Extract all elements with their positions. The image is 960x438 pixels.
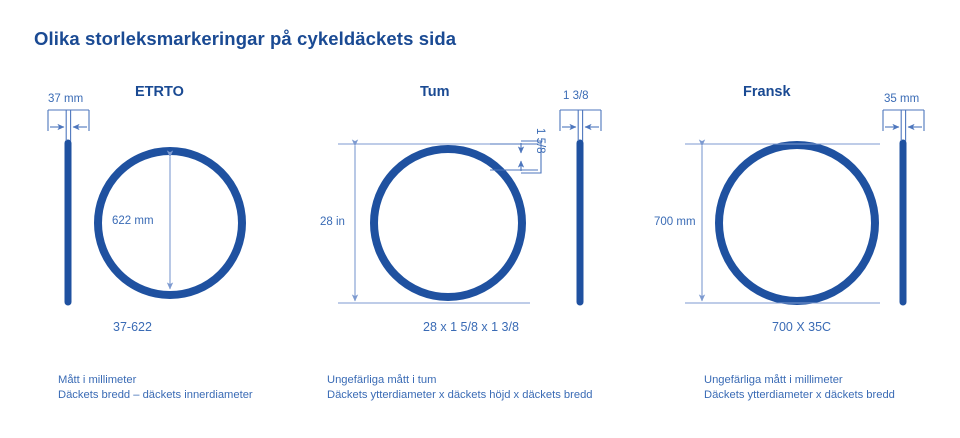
width-bracket-fransk bbox=[883, 110, 924, 141]
diameter-label-tum: 28 in bbox=[320, 216, 345, 228]
diameter-arrow-fransk bbox=[685, 144, 880, 303]
tire-ring-fransk bbox=[719, 145, 875, 301]
caption-tum-line2: Däckets ytterdiameter x däckets höjd x d… bbox=[327, 388, 593, 403]
tire-ring-tum bbox=[374, 149, 522, 297]
width-bracket-tum bbox=[560, 110, 601, 141]
size-code-fransk: 700 X 35C bbox=[772, 320, 831, 334]
size-code-etrto: 37-622 bbox=[113, 320, 152, 334]
width-bracket-etrto bbox=[48, 110, 89, 141]
caption-fransk-line2: Däckets ytterdiameter x däckets bredd bbox=[704, 388, 895, 403]
diameter-arrow-tum bbox=[338, 144, 530, 303]
caption-etrto-line2: Däckets bredd – däckets innerdiameter bbox=[58, 388, 253, 403]
width-label-etrto: 37 mm bbox=[48, 93, 83, 105]
caption-etrto-line1: Mått i millimeter bbox=[58, 373, 136, 388]
page-title: Olika storleksmarkeringar på cykeldäcket… bbox=[34, 28, 456, 50]
caption-fransk-line1: Ungefärliga mått i millimeter bbox=[704, 373, 843, 388]
height-label-tum: 1 5/8 bbox=[534, 128, 546, 154]
width-label-tum: 1 3/8 bbox=[563, 90, 589, 102]
infographic-page: Olika storleksmarkeringar på cykeldäcket… bbox=[0, 0, 960, 438]
panel-heading-fransk: Fransk bbox=[743, 84, 791, 100]
caption-tum-line1: Ungefärliga mått i tum bbox=[327, 373, 436, 388]
size-code-tum: 28 x 1 5/8 x 1 3/8 bbox=[423, 320, 519, 334]
diameter-label-etrto: 622 mm bbox=[112, 215, 154, 227]
panel-heading-tum: Tum bbox=[420, 84, 450, 100]
width-label-fransk: 35 mm bbox=[884, 93, 919, 105]
diameter-label-fransk: 700 mm bbox=[654, 216, 696, 228]
panel-heading-etrto: ETRTO bbox=[135, 84, 184, 100]
